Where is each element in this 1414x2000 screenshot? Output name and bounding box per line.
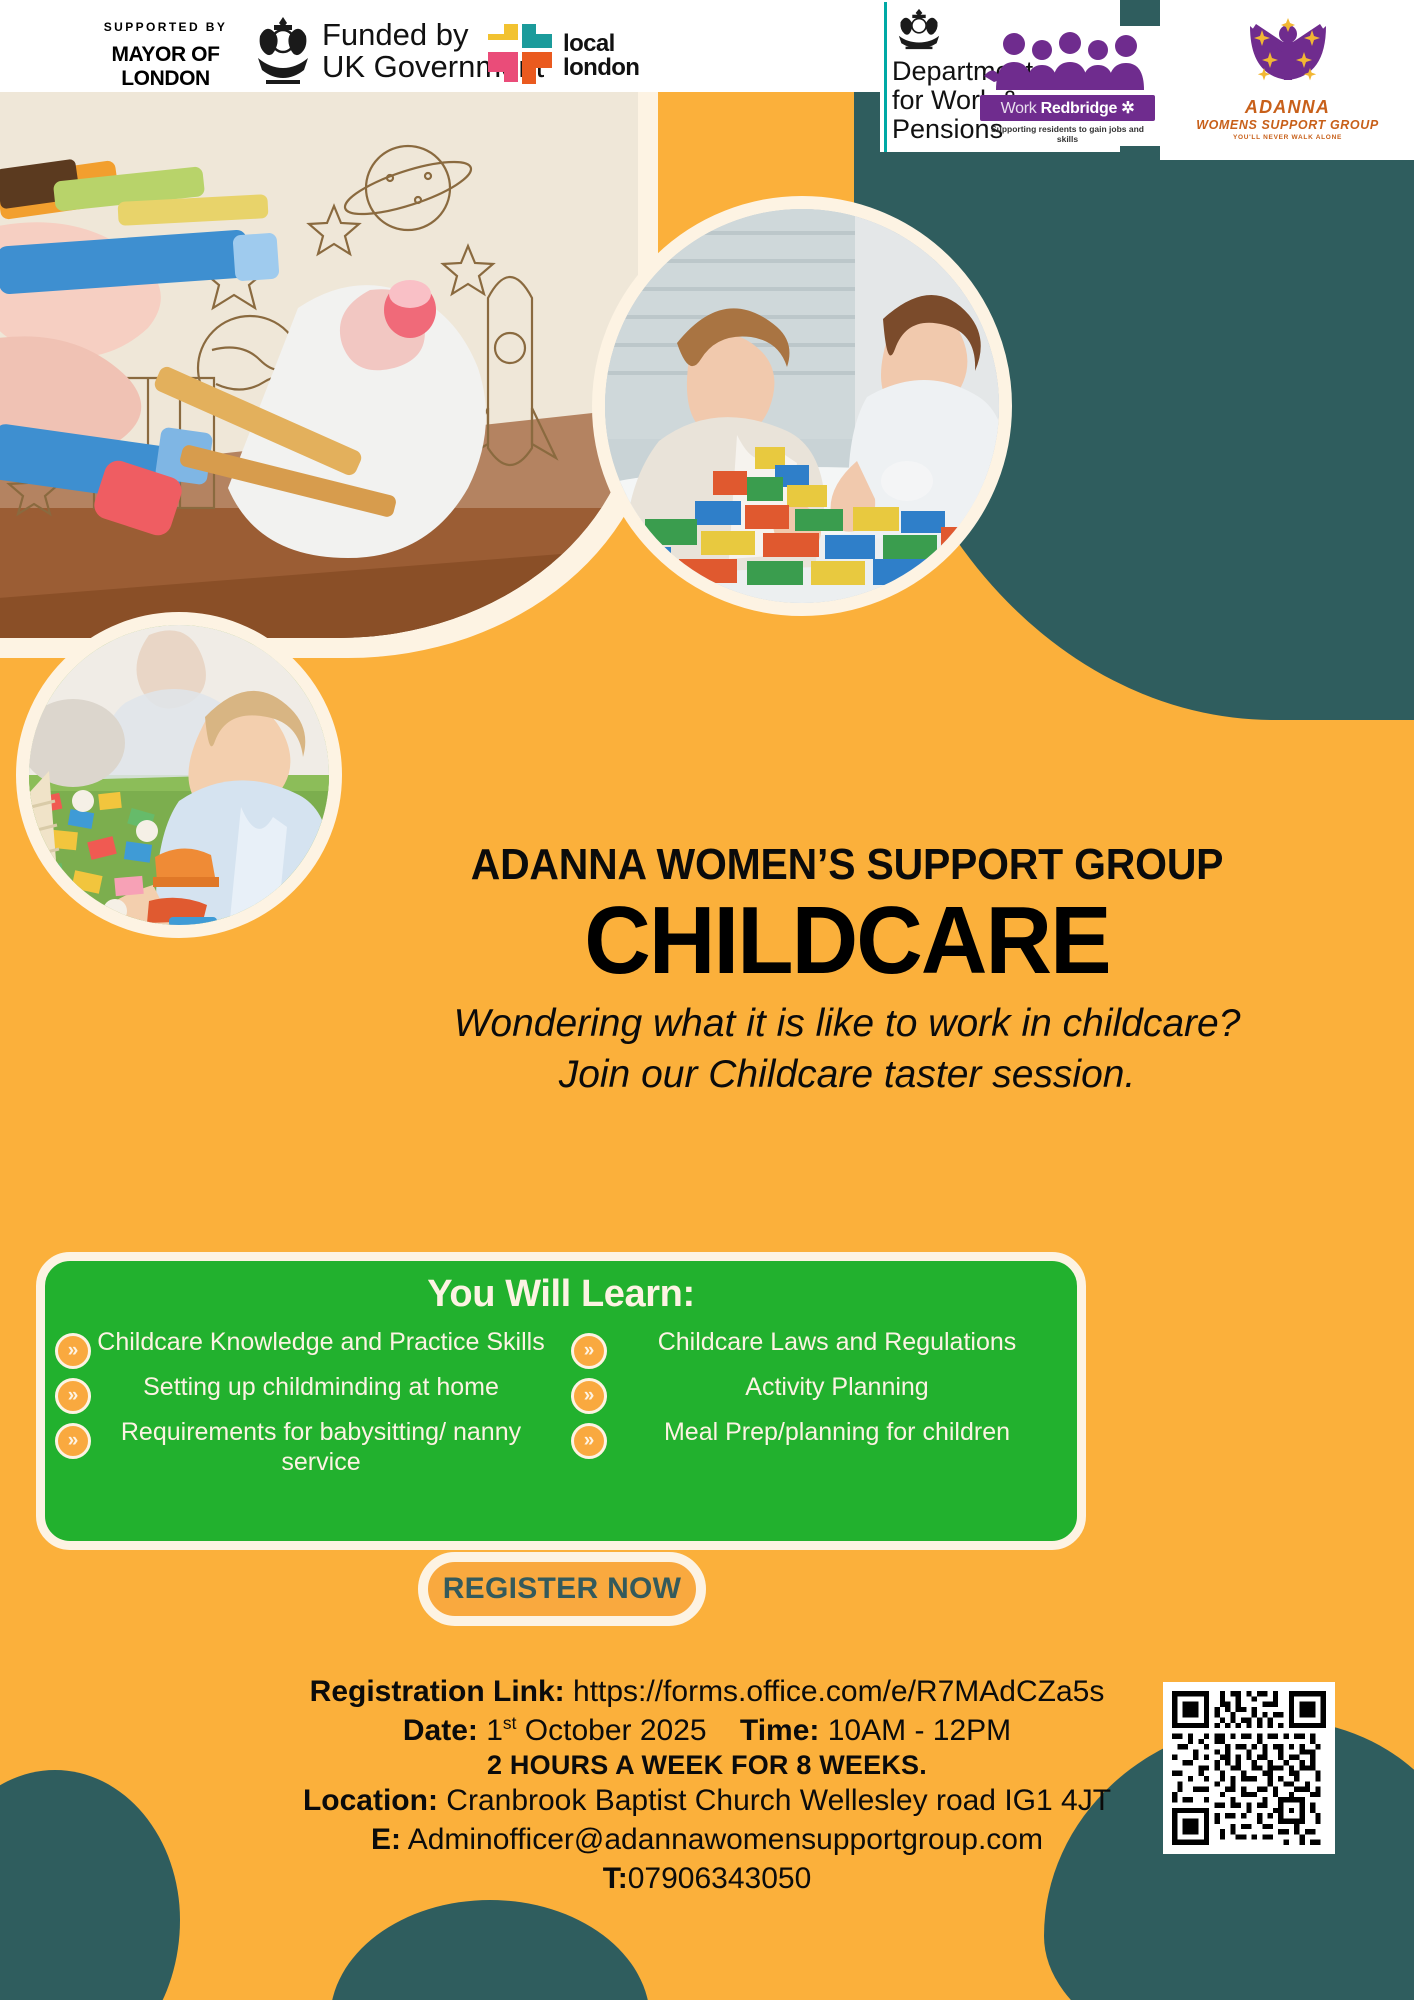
email-label: E: [371,1823,401,1856]
photo-toddler-playing-toys [16,612,342,938]
registration-link-label: Registration Link: [310,1675,565,1708]
adanna-emblem-icon [1240,12,1336,92]
photo-women-building-blocks-art [605,209,1005,609]
date-ordinal: st [503,1713,517,1733]
double-chevron-right-icon: » [55,1333,91,1369]
time-value: 10AM - 12PM [828,1714,1011,1747]
adanna-name: ADANNA [1185,97,1390,118]
double-chevron-right-icon: » [571,1333,607,1369]
list-item-label: Childcare Knowledge and Practice Skills [91,1328,551,1358]
double-chevron-right-icon: » [571,1378,607,1414]
adanna-subtitle: WOMENS SUPPORT GROUP [1185,118,1390,132]
adanna-logo: ADANNA WOMENS SUPPORT GROUP YOU'LL NEVER… [1185,12,1390,141]
list-item: » Meal Prep/planning for children [561,1416,1077,1461]
redbridge-wordmark: Work Redbridge ✲ [980,95,1155,121]
learn-bullets: » Childcare Knowledge and Practice Skill… [45,1326,1077,1479]
teal-blob-bottom-middle [330,1900,650,2000]
location-value: Cranbrook Baptist Church Wellesley road … [446,1784,1111,1817]
supported-by-label: SUPPORTED BY [78,20,253,34]
registration-link-value[interactable]: https://forms.office.com/e/R7MAdCZa5s [573,1675,1104,1708]
double-chevron-right-icon: » [55,1378,91,1414]
redbridge-people-icon [984,30,1152,90]
adanna-tagline: YOU'LL NEVER WALK ALONE [1185,134,1390,141]
list-item-label: Activity Planning [607,1373,1067,1403]
learn-bullets-right-column: » Childcare Laws and Regulations » Activ… [561,1326,1077,1479]
qr-code[interactable] [1163,1682,1335,1854]
qr-code-image [1172,1691,1326,1845]
list-item-label: Requirements for babysitting/ nanny serv… [91,1418,551,1477]
list-item: » Childcare Knowledge and Practice Skill… [45,1326,561,1371]
list-item: » Childcare Laws and Regulations [561,1326,1077,1371]
organisation-title: ADANNA WOMEN’S SUPPORT GROUP [338,840,1355,890]
poster-root: SUPPORTED BY MAYOR OF LONDON Funded by [0,0,1414,2000]
tagline-line-2: Join our Childcare taster session. [300,1051,1394,1099]
local-london-line1: local [563,32,639,56]
you-will-learn-title: You Will Learn: [45,1273,1077,1316]
date-day: 1 [486,1714,503,1747]
location-label: Location: [303,1784,438,1817]
email-value[interactable]: Adminofficer@adannawomensupportgroup.com [408,1823,1043,1856]
local-london-line2: london [563,56,639,80]
work-redbridge-logo: Work Redbridge ✲ Supporting residents to… [980,30,1155,144]
page-title: CHILDCARE [322,892,1372,990]
list-item: » Activity Planning [561,1371,1077,1416]
list-item: » Setting up childminding at home [45,1371,561,1416]
photo-toddler-playing-toys-art [29,625,335,931]
redbridge-word-work: Work [1001,100,1037,117]
funder-logo-bar: SUPPORTED BY MAYOR OF LONDON Funded by [0,0,1414,165]
tagline: Wondering what it is like to work in chi… [300,1000,1394,1099]
royal-crest-icon-dwp [892,8,946,50]
royal-crest-icon [252,14,314,88]
learn-bullets-left-column: » Childcare Knowledge and Practice Skill… [45,1326,561,1479]
you-will-learn-panel: You Will Learn: » Childcare Knowledge an… [36,1252,1086,1550]
date-rest: October 2025 [525,1714,707,1747]
phone-label: T: [603,1862,628,1895]
time-label: Time: [740,1714,819,1747]
date-label: Date: [403,1714,478,1747]
dwp-divider [884,2,887,152]
local-london-logo: local london [486,22,639,90]
local-london-text: local london [563,32,639,80]
list-item-label: Setting up childminding at home [91,1373,551,1403]
double-chevron-right-icon: » [55,1423,91,1459]
mayor-of-london-logo: SUPPORTED BY MAYOR OF LONDON [78,20,253,91]
redbridge-word-redbridge: Redbridge [1041,100,1117,117]
double-chevron-right-icon: » [571,1423,607,1459]
redbridge-strapline: Supporting residents to gain jobs and sk… [980,124,1155,144]
list-item-label: Meal Prep/planning for children [607,1418,1067,1448]
mayor-of-london-label: MAYOR OF LONDON [78,43,253,91]
tagline-line-1: Wondering what it is like to work in chi… [454,1002,1241,1045]
list-item: » Requirements for babysitting/ nanny se… [45,1416,561,1479]
phone-line: T:07906343050 [0,1859,1414,1898]
redbridge-leaf-icon: ✲ [1121,100,1134,117]
list-item-label: Childcare Laws and Regulations [607,1328,1067,1358]
photo-women-building-blocks [592,196,1012,616]
register-now-button[interactable]: REGISTER NOW [418,1552,706,1626]
phone-value: 07906343050 [628,1862,812,1895]
local-london-cross-icon [486,22,554,90]
title-block: ADANNA WOMEN’S SUPPORT GROUP CHILDCARE W… [300,840,1394,1099]
